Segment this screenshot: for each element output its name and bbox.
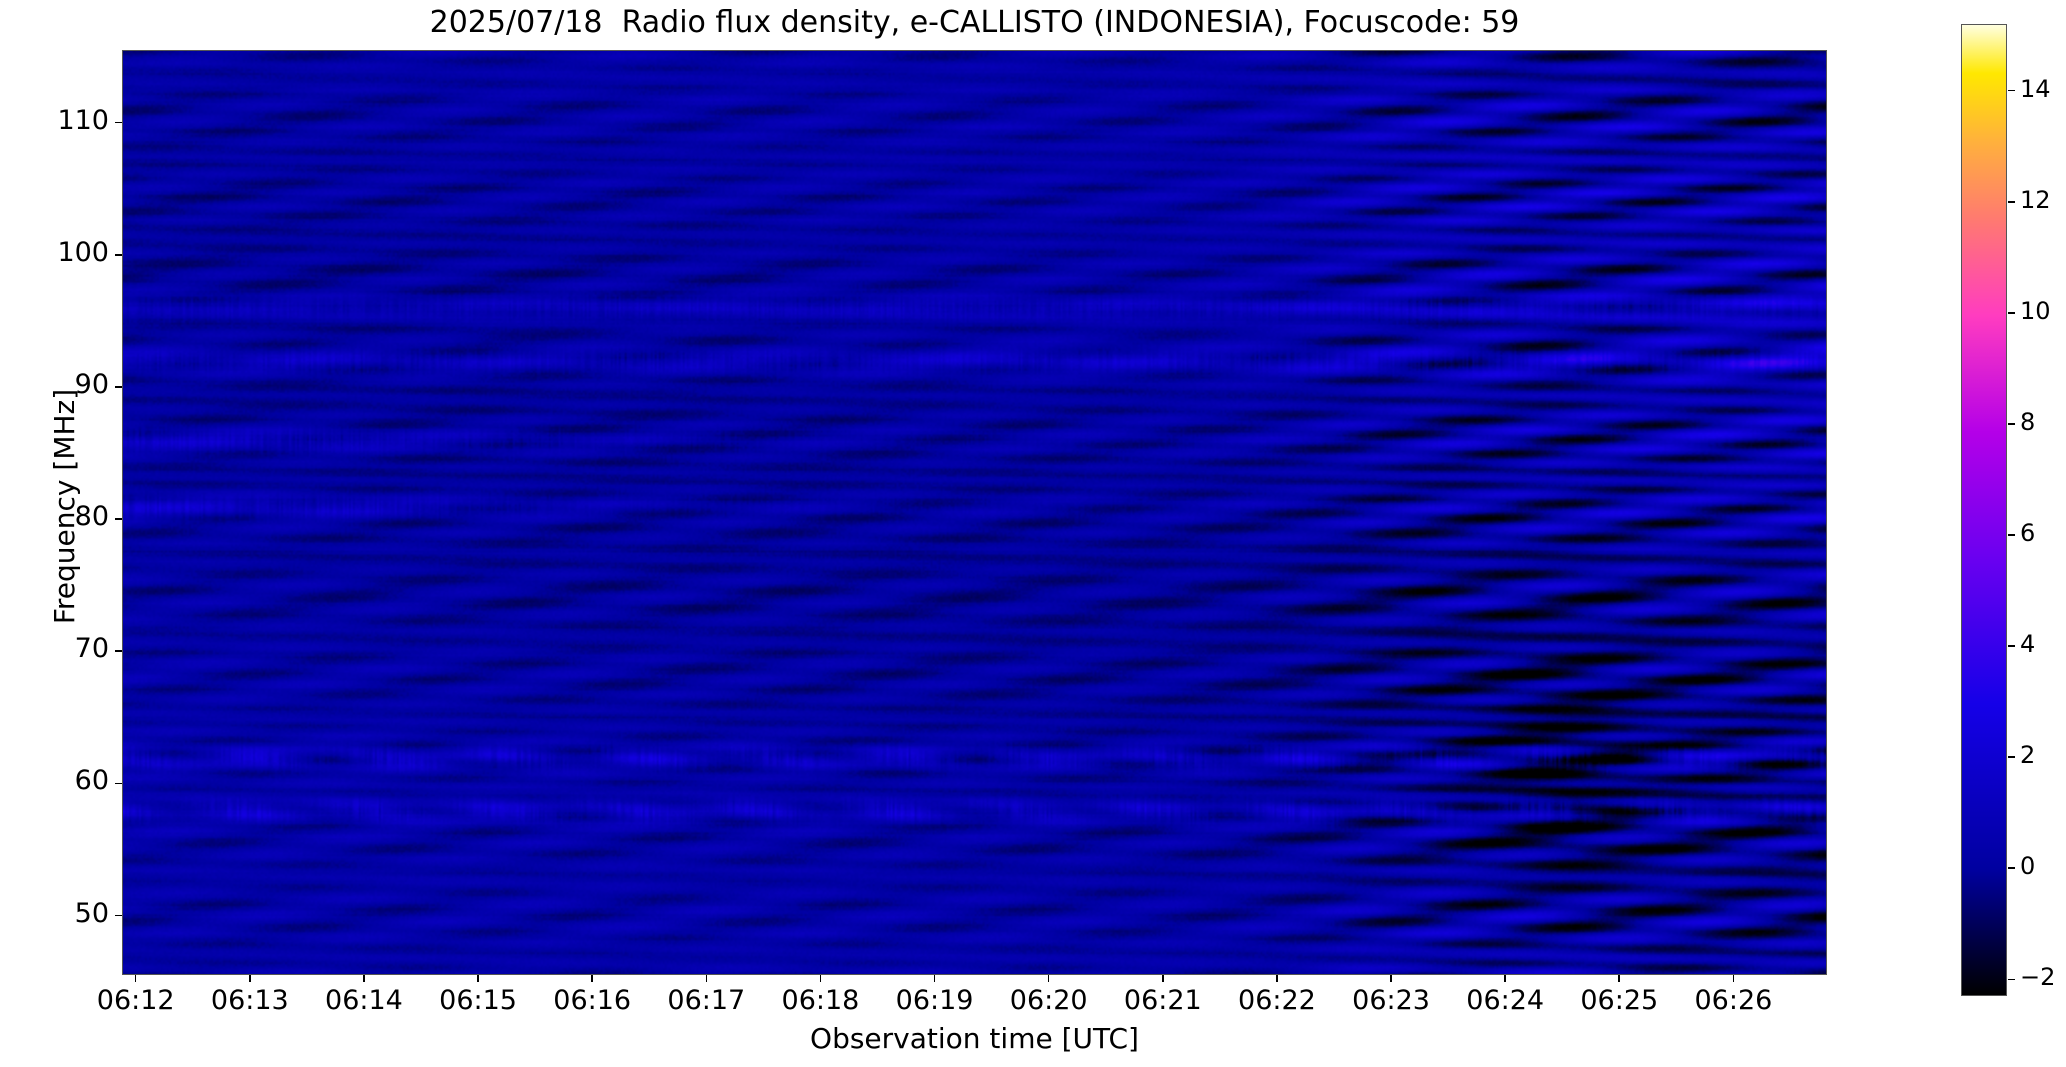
colorbar-tick-label: 8 (2020, 408, 2035, 436)
y-axis-tick-mark (115, 386, 122, 388)
x-axis-tick-mark (1162, 975, 1164, 982)
colorbar-tick-mark (2008, 534, 2015, 536)
y-axis-tick-label: 80 (75, 501, 109, 532)
x-axis-tick-label: 06:15 (439, 985, 517, 1016)
colorbar-tick-mark (2008, 979, 2015, 981)
x-axis-tick-mark (1048, 975, 1050, 982)
y-axis-tick-mark (115, 518, 122, 520)
x-axis-tick-mark (363, 975, 365, 982)
x-axis-tick-mark (934, 975, 936, 982)
spectrogram-plot (122, 50, 1827, 975)
x-axis-tick-mark (820, 975, 822, 982)
y-axis-tick-mark (115, 650, 122, 652)
y-axis-tick-label: 70 (75, 633, 109, 664)
x-axis-tick-label: 06:25 (1580, 985, 1658, 1016)
x-axis-tick-label: 06:24 (1466, 985, 1544, 1016)
x-axis-tick-label: 06:12 (97, 985, 175, 1016)
figure-canvas: 2025/07/18 Radio flux density, e-CALLIST… (0, 0, 2066, 1067)
y-axis-tick-label: 90 (75, 369, 109, 400)
x-axis-tick-mark (706, 975, 708, 982)
x-axis-tick-label: 06:19 (896, 985, 974, 1016)
x-axis-tick-mark (1390, 975, 1392, 982)
colorbar-tick-mark (2008, 90, 2015, 92)
x-axis-tick-label: 06:22 (1238, 985, 1316, 1016)
y-axis-tick-mark (115, 122, 122, 124)
y-axis-tick-label: 100 (57, 237, 109, 268)
x-axis-tick-label: 06:20 (1010, 985, 1088, 1016)
x-axis-tick-mark (1618, 975, 1620, 982)
x-axis-tick-mark (477, 975, 479, 982)
colorbar-tick-label: 14 (2020, 75, 2051, 103)
x-axis-tick-label: 06:21 (1124, 985, 1202, 1016)
x-axis-tick-label: 06:14 (325, 985, 403, 1016)
y-axis-tick-mark (115, 915, 122, 917)
colorbar-tick-label: 0 (2020, 852, 2035, 880)
page-title: 2025/07/18 Radio flux density, e-CALLIST… (122, 4, 1827, 42)
x-axis-tick-label: 06:13 (211, 985, 289, 1016)
x-axis-tick-mark (1733, 975, 1735, 982)
colorbar-tick-mark (2008, 867, 2015, 869)
y-axis-tick-label: 110 (57, 105, 109, 136)
colorbar-tick-mark (2008, 645, 2015, 647)
x-axis-tick-label: 06:23 (1352, 985, 1430, 1016)
x-axis-label: Observation time [UTC] (122, 1022, 1827, 1055)
colorbar-tick-mark (2008, 312, 2015, 314)
x-axis-tick-label: 06:26 (1695, 985, 1773, 1016)
colorbar-tick-label: 10 (2020, 297, 2051, 325)
y-axis-tick-mark (115, 783, 122, 785)
x-axis-tick-mark (249, 975, 251, 982)
colorbar-gradient (1962, 25, 2006, 995)
colorbar-tick-mark (2008, 423, 2015, 425)
y-axis-tick-mark (115, 254, 122, 256)
colorbar (1961, 24, 2007, 996)
colorbar-tick-label: 2 (2020, 741, 2035, 769)
x-axis-tick-mark (1276, 975, 1278, 982)
colorbar-tick-label: 12 (2020, 186, 2051, 214)
colorbar-tick-label: −2 (2020, 963, 2055, 991)
y-axis-tick-label: 60 (75, 765, 109, 796)
x-axis-tick-label: 06:16 (553, 985, 631, 1016)
colorbar-tick-mark (2008, 756, 2015, 758)
x-axis-tick-mark (135, 975, 137, 982)
colorbar-tick-label: 6 (2020, 519, 2035, 547)
y-axis-tick-label: 50 (75, 898, 109, 929)
colorbar-tick-label: 4 (2020, 630, 2035, 658)
x-axis-tick-label: 06:18 (782, 985, 860, 1016)
x-axis-tick-mark (1504, 975, 1506, 982)
x-axis-tick-label: 06:17 (667, 985, 745, 1016)
colorbar-tick-mark (2008, 201, 2015, 203)
spectrogram-image (123, 51, 1827, 975)
x-axis-tick-mark (591, 975, 593, 982)
